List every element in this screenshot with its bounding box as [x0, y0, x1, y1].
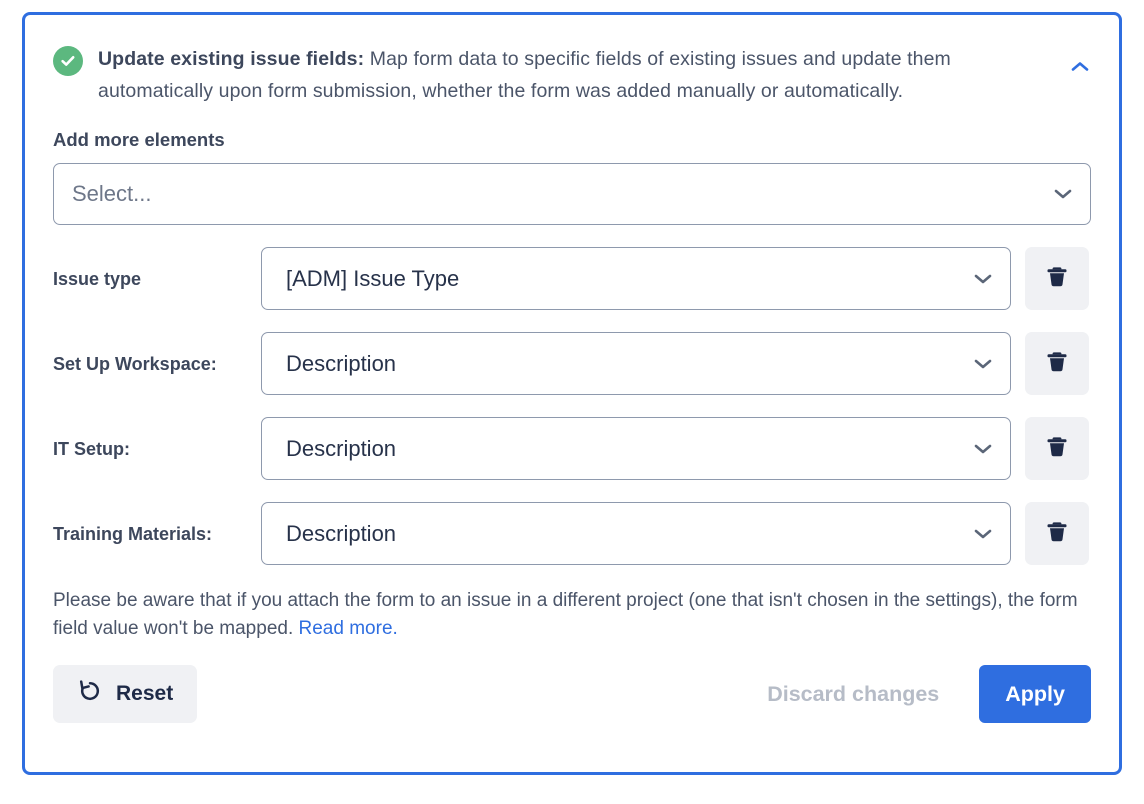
- add-more-elements-select[interactable]: Select...: [53, 163, 1091, 225]
- panel-header: Update existing issue fields: Map form d…: [25, 15, 1119, 107]
- collapse-panel-button[interactable]: [1065, 55, 1095, 81]
- field-label-set-up-workspace: Set Up Workspace:: [53, 352, 261, 376]
- panel-body: Add more elements Select... Issue type […: [25, 129, 1119, 723]
- mapping-note-text: Please be aware that if you attach the f…: [53, 590, 1078, 639]
- add-more-elements-placeholder: Select...: [72, 181, 151, 207]
- read-more-link[interactable]: Read more.: [299, 618, 398, 639]
- rotate-left-icon: [77, 678, 103, 710]
- field-select-issue-type[interactable]: [ADM] Issue Type: [261, 247, 1011, 310]
- chevron-down-icon[interactable]: [973, 357, 993, 370]
- trash-icon: [1045, 349, 1069, 378]
- footer-actions: Discard changes Apply: [767, 665, 1091, 723]
- panel-footer: Reset Discard changes Apply: [53, 665, 1091, 723]
- field-label-issue-type: Issue type: [53, 267, 261, 291]
- chevron-down-icon[interactable]: [1053, 188, 1073, 201]
- update-issue-fields-panel: Update existing issue fields: Map form d…: [22, 12, 1122, 775]
- field-label-it-setup: IT Setup:: [53, 437, 261, 461]
- reset-button-label: Reset: [116, 682, 173, 706]
- trash-icon: [1045, 264, 1069, 293]
- chevron-down-icon[interactable]: [973, 527, 993, 540]
- discard-changes-button[interactable]: Discard changes: [767, 682, 939, 707]
- field-value-set-up-workspace: Description: [286, 351, 396, 377]
- chevron-down-icon[interactable]: [973, 272, 993, 285]
- apply-button[interactable]: Apply: [979, 665, 1091, 723]
- panel-title: Update existing issue fields:: [98, 48, 364, 70]
- table-row: Set Up Workspace: Description: [53, 332, 1091, 395]
- delete-row-button-training-materials[interactable]: [1025, 502, 1089, 565]
- panel-header-text: Update existing issue fields: Map form d…: [98, 43, 998, 107]
- add-more-elements-label: Add more elements: [53, 129, 1091, 151]
- trash-icon: [1045, 434, 1069, 463]
- table-row: Issue type [ADM] Issue Type: [53, 247, 1091, 310]
- delete-row-button-set-up-workspace[interactable]: [1025, 332, 1089, 395]
- field-value-issue-type: [ADM] Issue Type: [286, 266, 459, 292]
- reset-button[interactable]: Reset: [53, 665, 197, 723]
- delete-row-button-issue-type[interactable]: [1025, 247, 1089, 310]
- check-circle-icon: [53, 46, 83, 76]
- field-value-it-setup: Description: [286, 436, 396, 462]
- table-row: Training Materials: Description: [53, 502, 1091, 565]
- trash-icon: [1045, 519, 1069, 548]
- field-value-training-materials: Description: [286, 521, 396, 547]
- table-row: IT Setup: Description: [53, 417, 1091, 480]
- mapping-note: Please be aware that if you attach the f…: [53, 587, 1091, 643]
- field-select-training-materials[interactable]: Description: [261, 502, 1011, 565]
- field-select-it-setup[interactable]: Description: [261, 417, 1011, 480]
- field-select-set-up-workspace[interactable]: Description: [261, 332, 1011, 395]
- delete-row-button-it-setup[interactable]: [1025, 417, 1089, 480]
- chevron-up-icon: [1070, 60, 1090, 76]
- field-mapping-rows: Issue type [ADM] Issue Type: [53, 247, 1091, 565]
- field-label-training-materials: Training Materials:: [53, 522, 261, 546]
- chevron-down-icon[interactable]: [973, 442, 993, 455]
